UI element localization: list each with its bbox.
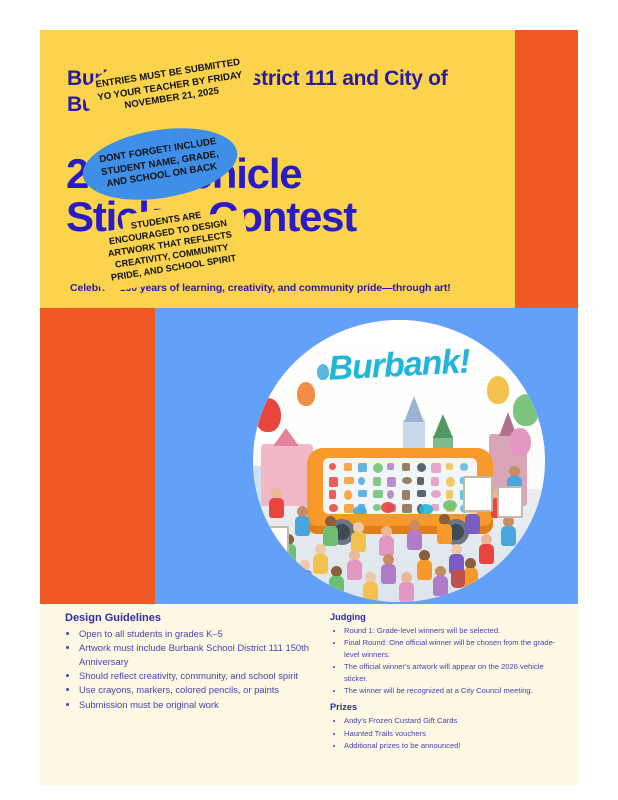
- sticker-icon: [387, 490, 394, 499]
- sticker-icon: [373, 504, 381, 511]
- child-figure-icon: [435, 566, 448, 596]
- paint-splatter-icon: [443, 500, 457, 511]
- sticker-icon: [417, 463, 426, 472]
- list-item: Haunted Trails vouchers: [344, 728, 560, 739]
- sticker-icon: [446, 490, 453, 499]
- sticker-icon: [358, 490, 367, 497]
- sticker-icon: [431, 490, 441, 498]
- mid-orange-band: [40, 308, 155, 604]
- sticker-icon: [373, 477, 381, 486]
- list-item: Additional prizes to be announced!: [344, 740, 560, 751]
- easel-icon: [497, 486, 523, 518]
- child-figure-icon: [481, 534, 494, 564]
- child-figure-icon: [409, 520, 422, 550]
- sticker-icon: [417, 490, 426, 497]
- child-figure-icon: [503, 516, 516, 546]
- illustration-circle: Burbank!: [253, 320, 545, 602]
- sticker-icon: [344, 463, 352, 471]
- sticker-icon: [402, 463, 410, 471]
- sticker-icon: [460, 463, 468, 471]
- judging-list: Round 1: Grade-level winners will be sel…: [330, 625, 560, 696]
- list-item: Final Round: One official winner will be…: [344, 637, 560, 660]
- child-figure-icon: [401, 572, 414, 602]
- sticker-icon: [402, 477, 412, 484]
- sticker-icon: [402, 504, 412, 513]
- child-figure-icon: [349, 550, 362, 580]
- sticker-icon: [344, 490, 352, 500]
- paint-splatter-icon: [419, 504, 433, 514]
- sticker-icon: [358, 463, 367, 472]
- list-item: Open to all students in grades K–5: [79, 627, 315, 640]
- list-item: Round 1: Grade-level winners will be sel…: [344, 625, 560, 636]
- easel-icon: [463, 476, 493, 512]
- pencil-cup-icon: [451, 570, 465, 588]
- child-figure-icon: [353, 522, 366, 552]
- child-figure-icon: [315, 544, 328, 574]
- sticker-icon: [417, 477, 424, 485]
- pencil-cup-icon: [287, 568, 305, 588]
- easel-icon: [259, 526, 289, 560]
- child-figure-icon: [331, 566, 344, 596]
- child-figure-icon: [365, 572, 378, 602]
- paint-splatter-icon: [353, 506, 367, 514]
- sticker-icon: [402, 490, 410, 500]
- sticker-icon: [358, 477, 365, 485]
- sticker-icon: [344, 477, 354, 484]
- child-figure-icon: [325, 516, 338, 546]
- balloon-icon: [513, 394, 539, 426]
- sticker-icon: [387, 463, 394, 470]
- balloon-icon: [255, 398, 281, 432]
- sticker-icon: [329, 463, 336, 470]
- building-icon: [261, 444, 313, 506]
- sticker-icon: [329, 490, 336, 499]
- design-guidelines-section: Design Guidelines Open to all students i…: [65, 612, 315, 717]
- prizes-heading: Prizes: [330, 702, 560, 712]
- paint-splatter-icon: [381, 502, 395, 513]
- child-figure-icon: [419, 550, 432, 580]
- child-figure-icon: [465, 558, 478, 588]
- child-figure-icon: [271, 488, 284, 518]
- child-figure-icon: [383, 554, 396, 584]
- sticker-icon: [446, 463, 453, 470]
- balloon-icon: [509, 428, 531, 456]
- sticker-icon: [431, 477, 439, 486]
- list-item: The official winner's artwork will appea…: [344, 661, 560, 684]
- sticker-icon: [373, 490, 383, 498]
- sticker-icon: [446, 477, 455, 487]
- sticker-board: [323, 458, 477, 514]
- child-figure-icon: [381, 526, 394, 556]
- child-figure-icon: [297, 506, 310, 536]
- sticker-icon: [373, 463, 383, 473]
- judging-heading: Judging: [330, 612, 560, 622]
- list-item: Should reflect creativity, community, an…: [79, 669, 315, 682]
- list-item: Submission must be original work: [79, 698, 315, 711]
- details-area: Design Guidelines Open to all students i…: [40, 604, 578, 785]
- sticker-icon: [329, 504, 338, 512]
- list-item: Use crayons, markers, colored pencils, o…: [79, 683, 315, 696]
- design-guidelines-list: Open to all students in grades K–5Artwor…: [65, 627, 315, 711]
- flyer-poster: Burbank School District 111 and City of …: [40, 30, 578, 785]
- prizes-list: Andy's Frozen Custard Gift CardsHaunted …: [330, 715, 560, 751]
- design-guidelines-heading: Design Guidelines: [65, 612, 315, 624]
- sticker-icon: [329, 477, 338, 487]
- header-orange-stripe: [515, 30, 578, 308]
- list-item: Artwork must include Burbank School Dist…: [79, 641, 315, 668]
- list-item: The winner will be recognized at a City …: [344, 685, 560, 696]
- sticker-icon: [431, 463, 441, 473]
- judging-prizes-section: Judging Round 1: Grade-level winners wil…: [330, 612, 560, 758]
- sticker-icon: [387, 477, 396, 487]
- child-figure-icon: [439, 514, 452, 544]
- list-item: Andy's Frozen Custard Gift Cards: [344, 715, 560, 726]
